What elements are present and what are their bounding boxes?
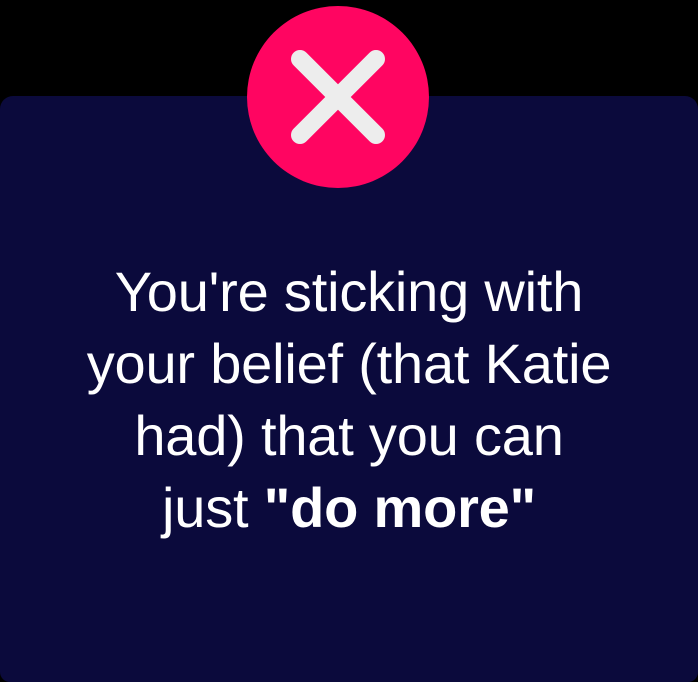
message-text-block: You're sticking with your belief (that K… — [0, 256, 698, 544]
message-line-4: just "do more" — [30, 472, 668, 544]
close-x-icon — [283, 42, 393, 152]
message-line-2: your belief (that Katie — [30, 328, 668, 400]
message-line-4-normal: just — [162, 476, 264, 539]
message-line-1: You're sticking with — [30, 256, 668, 328]
screen-root: You're sticking with your belief (that K… — [0, 0, 698, 682]
message-line-3: had) that you can — [30, 400, 668, 472]
status-badge — [247, 6, 429, 188]
message-line-4-emphasis: "do more" — [264, 476, 536, 539]
